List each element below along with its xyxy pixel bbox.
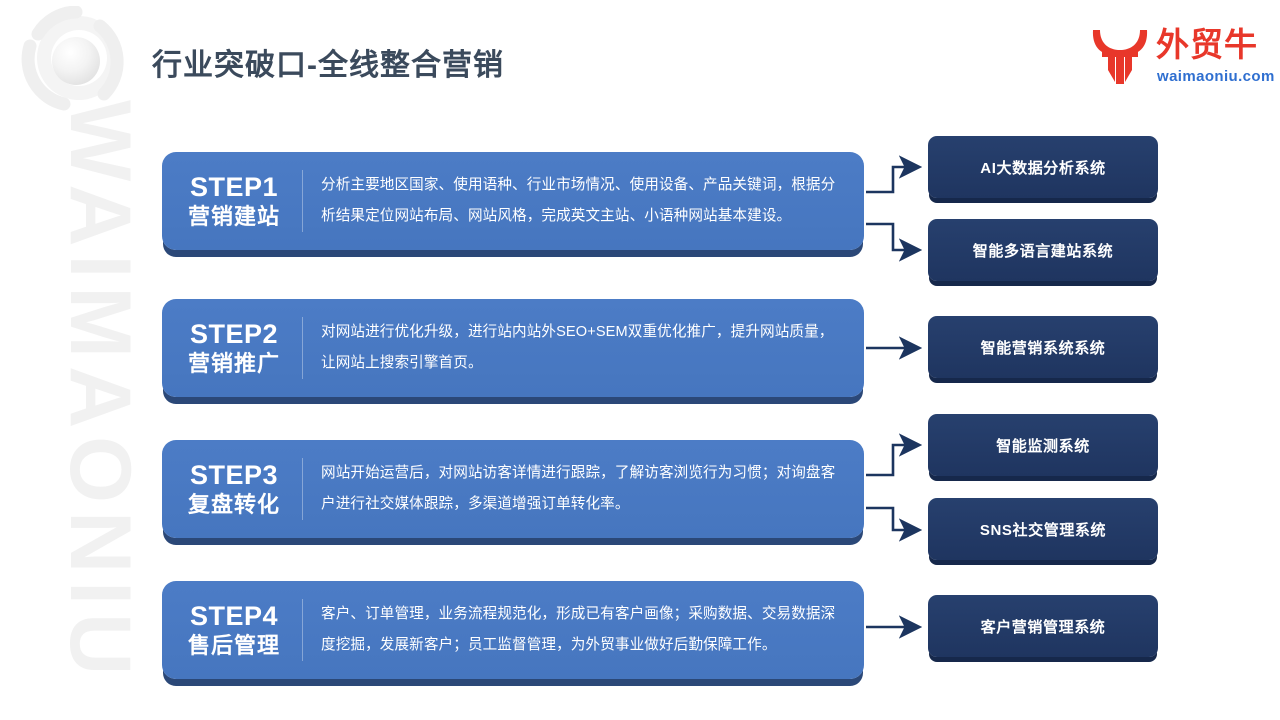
step-divider-2 bbox=[302, 317, 303, 379]
step-number-1: STEP1 bbox=[166, 172, 302, 202]
step-number-4: STEP4 bbox=[166, 601, 302, 631]
system-box-customer-marketing[interactable]: 客户营销管理系统 bbox=[928, 595, 1158, 657]
system-box-marketing[interactable]: 智能营销系统系统 bbox=[928, 316, 1158, 378]
step-label-4: STEP4 售后管理 bbox=[162, 601, 302, 660]
step-number-2: STEP2 bbox=[166, 319, 302, 349]
bull-horns-icon bbox=[1088, 26, 1152, 86]
step-name-3: 复盘转化 bbox=[166, 491, 302, 519]
system-box-ai-bigdata[interactable]: AI大数据分析系统 bbox=[928, 136, 1158, 198]
connector-step1-to-sys2 bbox=[866, 224, 917, 250]
step-name-2: 营销推广 bbox=[166, 350, 302, 378]
brand-name: 外贸牛 bbox=[1156, 26, 1258, 64]
connector-step3-to-sys5 bbox=[866, 508, 917, 530]
connector-step3-to-sys4 bbox=[866, 445, 917, 475]
system-box-multilang-site[interactable]: 智能多语言建站系统 bbox=[928, 219, 1158, 281]
step-card-4[interactable]: STEP4 售后管理 客户、订单管理，业务流程规范化，形成已有客户画像；采购数据… bbox=[162, 581, 864, 679]
step-description-4: 客户、订单管理，业务流程规范化，形成已有客户画像；采购数据、交易数据深度挖掘，发… bbox=[321, 599, 864, 661]
step-label-1: STEP1 营销建站 bbox=[162, 172, 302, 231]
step-name-1: 营销建站 bbox=[166, 203, 302, 231]
step-label-3: STEP3 复盘转化 bbox=[162, 460, 302, 519]
system-box-monitoring[interactable]: 智能监测系统 bbox=[928, 414, 1158, 476]
brand-logo: 外贸牛 waimaoniu.com bbox=[1088, 24, 1260, 92]
step-description-1: 分析主要地区国家、使用语种、行业市场情况、使用设备、产品关键词，根据分析结果定位… bbox=[321, 170, 864, 232]
step-card-1[interactable]: STEP1 营销建站 分析主要地区国家、使用语种、行业市场情况、使用设备、产品关… bbox=[162, 152, 864, 250]
page-title: 行业突破口-全线整合营销 bbox=[152, 40, 504, 84]
step-label-2: STEP2 营销推广 bbox=[162, 319, 302, 378]
step-number-3: STEP3 bbox=[166, 460, 302, 490]
step-description-3: 网站开始运营后，对网站访客详情进行跟踪，了解访客浏览行为习惯；对询盘客户进行社交… bbox=[321, 458, 864, 520]
step-name-4: 售后管理 bbox=[166, 632, 302, 660]
step-description-2: 对网站进行优化升级，进行站内站外SEO+SEM双重优化推广，提升网站质量，让网站… bbox=[321, 317, 864, 379]
watermark-emblem-icon bbox=[8, 6, 150, 111]
step-divider-4 bbox=[302, 599, 303, 661]
watermark-text: WAIMAONIU bbox=[40, 100, 160, 620]
watermark: WAIMAONIU bbox=[0, 0, 165, 720]
step-card-2[interactable]: STEP2 营销推广 对网站进行优化升级，进行站内站外SEO+SEM双重优化推广… bbox=[162, 299, 864, 397]
step-card-3[interactable]: STEP3 复盘转化 网站开始运营后，对网站访客详情进行跟踪，了解访客浏览行为习… bbox=[162, 440, 864, 538]
brand-url: waimaoniu.com bbox=[1157, 68, 1275, 85]
step-divider-1 bbox=[302, 170, 303, 232]
system-box-sns[interactable]: SNS社交管理系统 bbox=[928, 498, 1158, 560]
connector-step1-to-sys1 bbox=[866, 167, 917, 192]
step-divider-3 bbox=[302, 458, 303, 520]
